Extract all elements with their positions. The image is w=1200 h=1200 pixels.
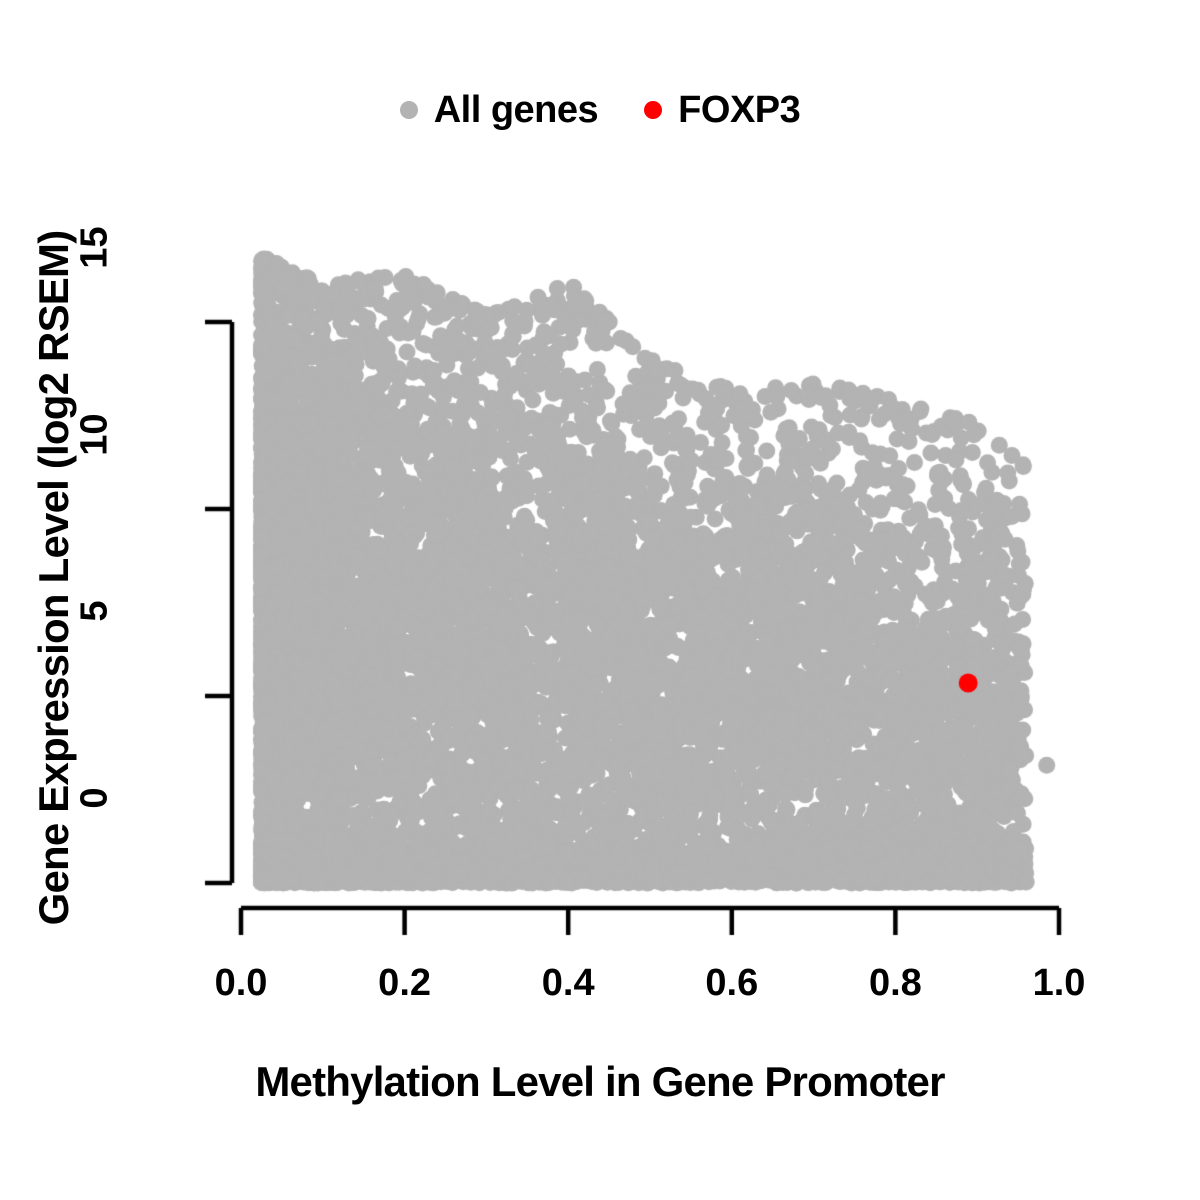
y-axis-title: Gene Expression Level (log2 RSEM) [30, 138, 78, 1018]
x-tick-label-0.4: 0.4 [542, 962, 595, 1005]
legend-entry-all-genes: All genes [400, 91, 598, 129]
x-tick-label-0.0: 0.0 [215, 962, 268, 1005]
legend-entry-foxp3: FOXP3 [644, 91, 800, 129]
legend-marker-foxp3-icon [644, 101, 662, 119]
x-tick-label-0.8: 0.8 [869, 962, 922, 1005]
y-tick-label-15: 15 [74, 227, 117, 417]
scatter-plot-figure: All genes FOXP3 Methylation Level in Gen… [0, 0, 1200, 1200]
legend-marker-all-genes-icon [400, 101, 418, 119]
plot-canvas [0, 0, 1200, 1200]
legend-label-all-genes: All genes [434, 91, 598, 129]
y-tick-label-0: 0 [74, 788, 117, 978]
chart-legend: All genes FOXP3 [0, 80, 1200, 140]
x-axis-title: Methylation Level in Gene Promoter [0, 1058, 1200, 1106]
y-tick-label-10: 10 [74, 414, 117, 604]
x-tick-label-0.2: 0.2 [378, 962, 431, 1005]
y-tick-label-5: 5 [74, 601, 117, 791]
x-tick-label-1.0: 1.0 [1033, 962, 1086, 1005]
x-tick-label-0.6: 0.6 [705, 962, 758, 1005]
legend-label-foxp3: FOXP3 [678, 91, 800, 129]
